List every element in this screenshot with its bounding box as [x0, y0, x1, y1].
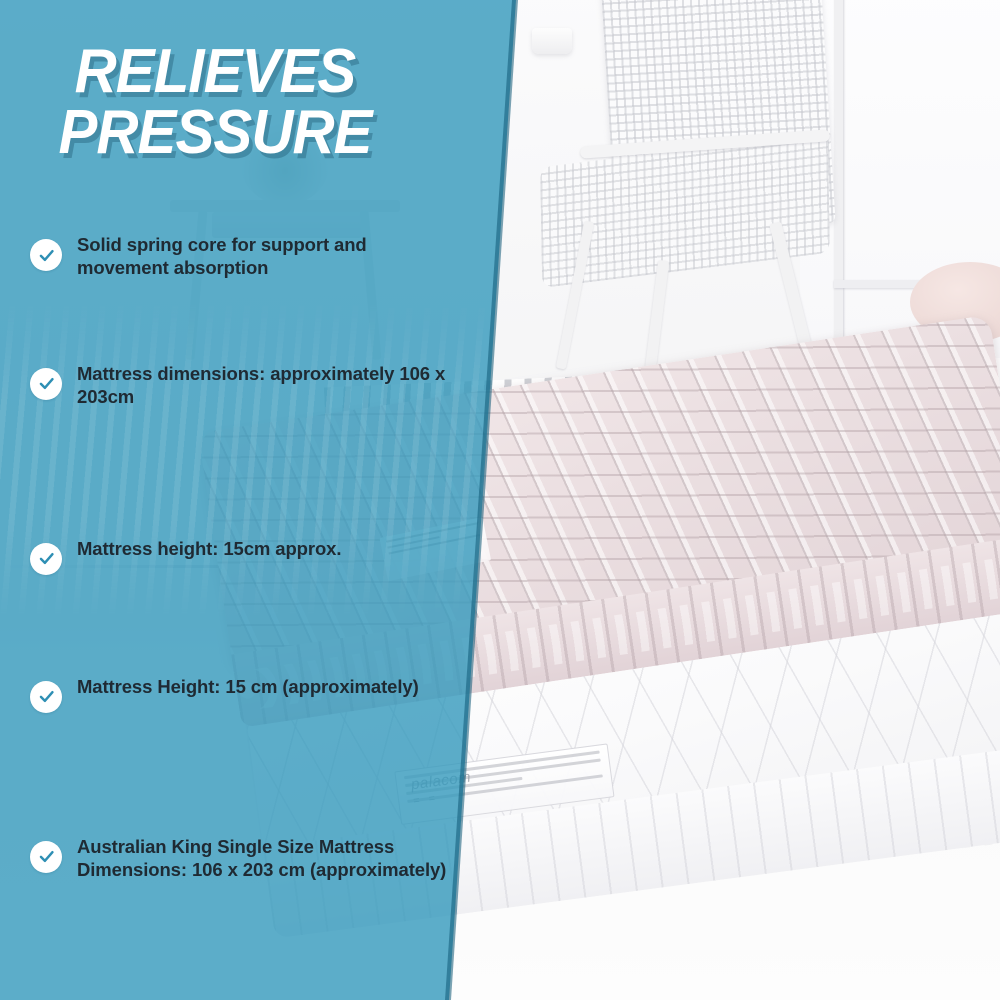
- check-circle-icon: [30, 239, 62, 271]
- marketing-content: RELIEVES PRESSURE Solid spring core for …: [0, 0, 1000, 1000]
- headline-line-1: RELIEVES: [75, 37, 356, 106]
- feature-item: Solid spring core for support and moveme…: [0, 233, 470, 280]
- check-circle-icon: [30, 681, 62, 713]
- feature-text: Solid spring core for support and moveme…: [77, 233, 456, 280]
- check-circle-icon: [30, 368, 62, 400]
- feature-list: Solid spring core for support and moveme…: [0, 233, 470, 882]
- feature-item: Mattress height: 15cm approx.: [0, 537, 470, 575]
- feature-item: Mattress dimensions: approximately 106 x…: [0, 362, 470, 409]
- headline: RELIEVES PRESSURE: [13, 42, 417, 164]
- feature-text: Australian King Single Size Mattress Dim…: [77, 835, 456, 882]
- headline-line-2: PRESSURE: [13, 103, 417, 164]
- feature-text: Mattress dimensions: approximately 106 x…: [77, 362, 456, 409]
- check-circle-icon: [30, 841, 62, 873]
- feature-item: Australian King Single Size Mattress Dim…: [0, 835, 470, 882]
- feature-text: Mattress height: 15cm approx.: [77, 537, 341, 560]
- check-circle-icon: [30, 543, 62, 575]
- feature-item: Mattress Height: 15 cm (approximately): [0, 675, 470, 713]
- feature-text: Mattress Height: 15 cm (approximately): [77, 675, 419, 698]
- product-feature-image: palacom = = RELIEVES PRESSURE: [0, 0, 1000, 1000]
